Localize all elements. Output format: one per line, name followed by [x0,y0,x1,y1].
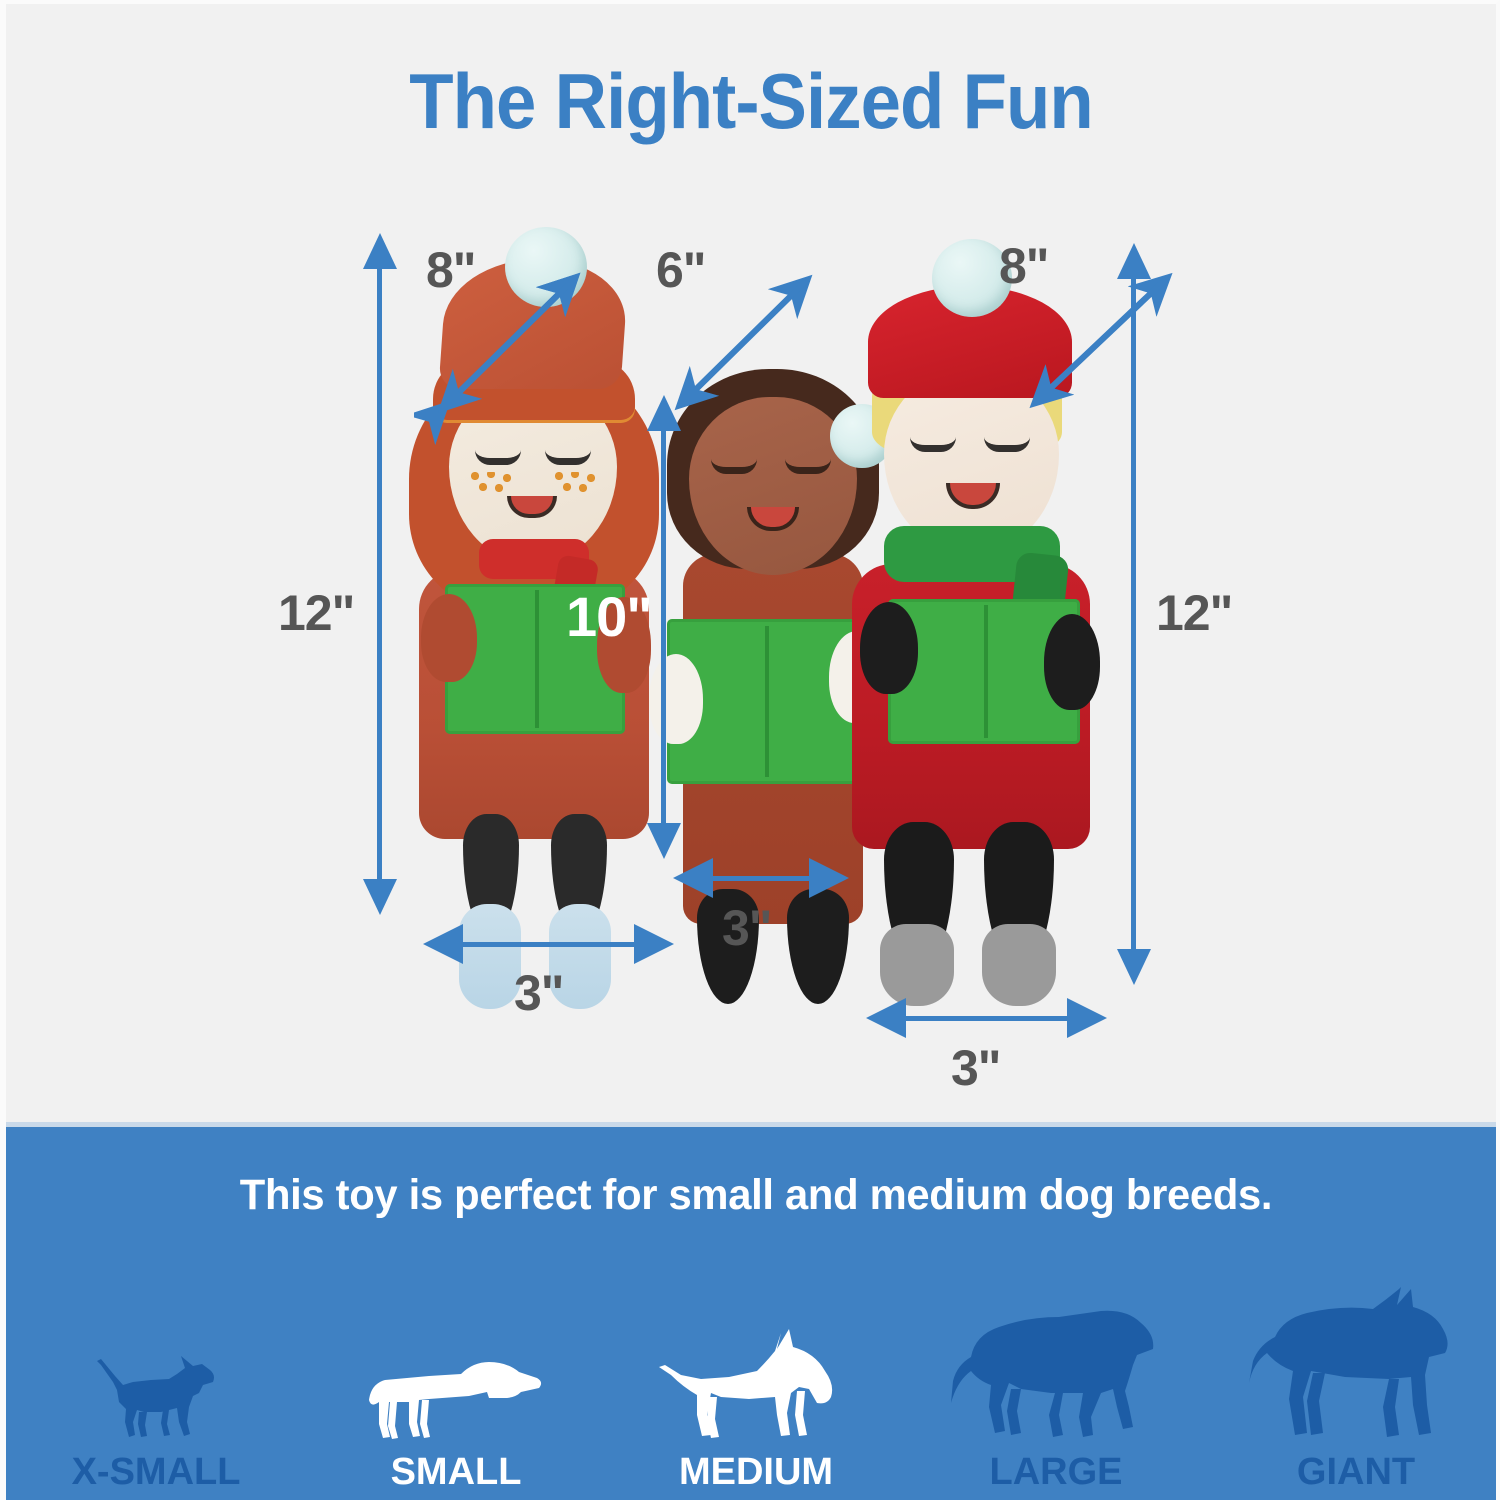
left-height-line [377,267,382,887]
center-width-line [711,876,811,881]
doll3-mitten-left [860,602,918,694]
doll3-boot-right [982,924,1056,1006]
right-height-label: 12" [1156,584,1232,642]
center-width-arrow-left [673,858,713,898]
center-height-label: 10" [566,584,652,649]
left-width-label: 3" [514,964,564,1022]
right-diagonal-label: 8" [999,237,1049,295]
right-height-arrow-bottom [1117,949,1151,985]
left-height-arrow-top [363,233,397,269]
doll2-mitten-left [649,654,703,744]
doll1-boot-left [459,904,521,1009]
breed-size-label-xsmall: X-SMALL [72,1451,241,1494]
breed-size-list: X-SMALL SMALL MEDIUM [6,1230,1500,1500]
dachshund-icon-wrap [369,1352,544,1447]
left-width-arrow-left [423,924,463,964]
doll3-mitten-right [1044,614,1100,710]
center-height-arrow-bottom [647,823,681,859]
breed-size-label-large: LARGE [990,1451,1123,1494]
center-width-label: 3" [722,899,772,957]
breed-size-medium[interactable]: MEDIUM [606,1230,906,1500]
center-height-line [661,429,666,829]
doll1-freckles-right [553,472,601,494]
page-title: The Right-Sized Fun [58,56,1444,147]
breed-size-xsmall[interactable]: X-SMALL [6,1230,306,1500]
right-width-line [904,1016,1069,1021]
dachshund-icon [369,1352,544,1447]
chihuahua-icon-wrap [89,1352,224,1447]
great-dane-icon [1249,1287,1464,1447]
doll3-eye-left [910,437,956,452]
right-height-arrow-top [1117,243,1151,279]
bull-terrier-icon [659,1327,854,1447]
doll1-mouth [507,496,557,518]
center-diagonal-label: 6" [656,241,706,299]
breed-size-giant[interactable]: GIANT [1206,1230,1500,1500]
doll3-boot-left [880,924,954,1006]
bull-terrier-icon-wrap [659,1327,854,1447]
doll3-mouth [946,483,1000,509]
center-height-arrow-top [647,395,681,431]
infographic-canvas: The Right-Sized Fun [0,0,1500,1500]
chihuahua-icon [89,1352,224,1447]
breed-size-small[interactable]: SMALL [306,1230,606,1500]
doll2-eye-left [711,459,757,474]
breed-size-label-small: SMALL [391,1451,522,1494]
breed-size-label-giant: GIANT [1297,1451,1415,1494]
right-width-arrow-right [1067,998,1107,1038]
breed-size-band: This toy is perfect for small and medium… [6,1122,1500,1500]
breed-size-large[interactable]: LARGE [906,1230,1206,1500]
golden-retriever-icon-wrap [951,1307,1161,1447]
left-height-label: 12" [278,584,354,642]
golden-retriever-icon [951,1307,1161,1447]
left-height-arrow-bottom [363,879,397,915]
doll1-freckles-left [469,472,517,494]
doll1-mitten-left [421,594,477,682]
left-width-line [461,942,636,947]
breed-size-label-medium: MEDIUM [679,1451,833,1494]
right-width-arrow-left [866,998,906,1038]
center-width-arrow-right [809,858,849,898]
right-height-line [1131,277,1136,957]
band-headline: This toy is perfect for small and medium… [29,1171,1484,1220]
great-dane-icon-wrap [1249,1287,1464,1447]
right-width-label: 3" [951,1039,1001,1097]
doll2-eye-right [785,459,831,474]
left-diagonal-label: 8" [426,241,476,299]
product-photo-stage: 12" 8" 6" 10" [6,179,1500,1124]
left-width-arrow-right [634,924,674,964]
doll2-mouth [747,507,799,531]
